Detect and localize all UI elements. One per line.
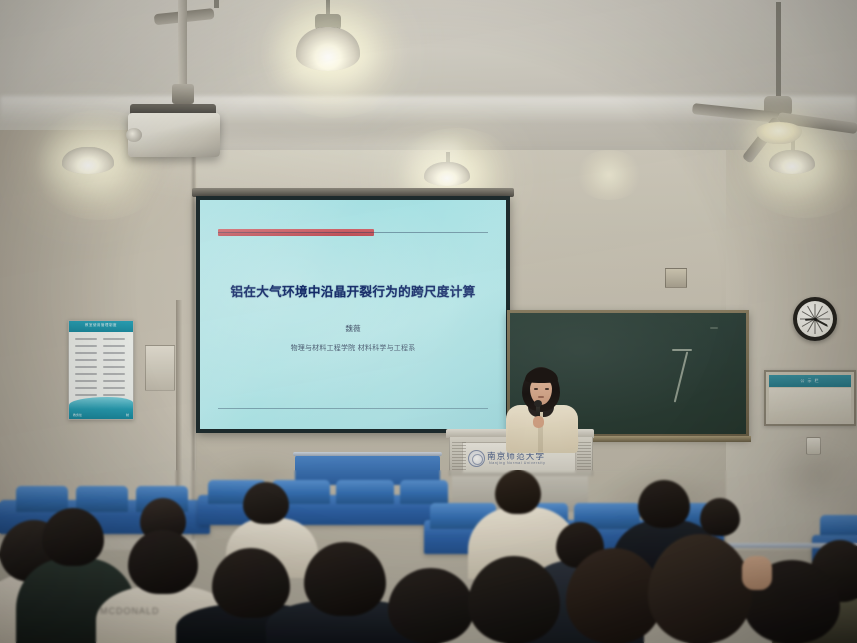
poster-row bbox=[75, 359, 97, 361]
seat-back[interactable] bbox=[76, 486, 128, 512]
podium-vent bbox=[577, 442, 591, 471]
podium-institution-en: Nanjing Normal University bbox=[489, 461, 573, 465]
poster-row bbox=[75, 373, 97, 375]
presenter-hand bbox=[533, 416, 544, 428]
clock-face bbox=[797, 301, 833, 337]
wall-clock-icon bbox=[793, 297, 837, 341]
pendant-light bbox=[424, 162, 470, 186]
poster-row bbox=[75, 380, 97, 382]
framed-notice-board: 公 示 栏 bbox=[764, 370, 856, 426]
poster-row bbox=[103, 366, 125, 368]
wall-speaker-icon bbox=[665, 268, 687, 288]
poster-row bbox=[103, 380, 125, 382]
poster-header-text: 教室使用管理制度 bbox=[69, 321, 133, 330]
poster-row bbox=[103, 338, 125, 340]
poster-row bbox=[103, 359, 125, 361]
poster-footer-left: 教务处 bbox=[73, 413, 82, 417]
slide-affiliation: 物理与材料工程学院 材料科学与工程系 bbox=[200, 343, 506, 353]
fan-rod bbox=[776, 2, 781, 98]
podium-vent bbox=[452, 442, 466, 471]
framed-board-header: 公 示 栏 bbox=[769, 375, 851, 387]
projector-lens-icon bbox=[126, 128, 142, 142]
audience-head bbox=[638, 480, 690, 528]
pendant-light bbox=[62, 147, 114, 174]
poster-footer-right: 制 bbox=[126, 413, 129, 417]
audience-head bbox=[495, 470, 541, 514]
poster-footer: 教务处 制 bbox=[73, 413, 129, 417]
chalk-mark bbox=[710, 327, 718, 329]
poster-row bbox=[103, 345, 125, 347]
wall-outlet[interactable] bbox=[806, 437, 821, 455]
poster-row bbox=[75, 366, 97, 368]
slide-rule-bottom bbox=[218, 408, 487, 409]
presenter-mouth bbox=[538, 396, 544, 398]
chalk-mark bbox=[674, 352, 689, 403]
audience-head bbox=[304, 542, 386, 616]
fan-rod bbox=[214, 0, 219, 8]
chalk-mark bbox=[672, 349, 692, 351]
clock-tick bbox=[815, 319, 816, 334]
audience-head bbox=[212, 548, 290, 618]
audience-head bbox=[42, 508, 104, 566]
slide-rule-top bbox=[218, 232, 487, 233]
poster-row bbox=[75, 345, 97, 347]
audience-head bbox=[128, 530, 198, 594]
audience-head bbox=[243, 482, 289, 524]
framed-board-body bbox=[769, 388, 851, 421]
projector-bracket bbox=[172, 84, 194, 104]
wall-poster-regulations: 教室使用管理制度 教务处 制 bbox=[68, 320, 134, 420]
slide-surface: 铝在大气环境中沿晶开裂行为的跨尺度计算 魏薇 物理与材料工程学院 材料科学与工程… bbox=[200, 200, 506, 429]
left-wall-corner bbox=[192, 140, 195, 540]
wall-switch-panel[interactable] bbox=[145, 345, 175, 391]
seat-back[interactable] bbox=[336, 480, 394, 504]
audience-head bbox=[468, 556, 560, 643]
audience-head bbox=[700, 498, 740, 536]
poster-row bbox=[75, 387, 97, 389]
projector-pole bbox=[178, 0, 187, 86]
audience-shirt-text: MCDONALD bbox=[100, 606, 184, 620]
poster-row bbox=[75, 352, 97, 354]
pendant-light bbox=[769, 150, 815, 174]
presenter-eye bbox=[534, 388, 538, 390]
slide-author: 魏薇 bbox=[200, 323, 506, 334]
presenter-eye bbox=[545, 388, 549, 390]
audience-head bbox=[648, 534, 752, 643]
slide-title: 铝在大气环境中沿晶开裂行为的跨尺度计算 bbox=[200, 281, 506, 300]
poster-row bbox=[103, 373, 125, 375]
poster-row bbox=[75, 394, 97, 396]
poster-row bbox=[103, 387, 125, 389]
seat-back[interactable] bbox=[16, 486, 68, 512]
projection-screen: 铝在大气环境中沿晶开裂行为的跨尺度计算 魏薇 物理与材料工程学院 材料科学与工程… bbox=[196, 196, 510, 433]
desk-edge bbox=[293, 452, 442, 456]
clock-center-pin bbox=[814, 318, 817, 321]
audience-head bbox=[388, 568, 474, 643]
audience-hand bbox=[742, 556, 772, 590]
pendant-light bbox=[296, 27, 360, 71]
lecture-hall-photo: 铝在大气环境中沿晶开裂行为的跨尺度计算 魏薇 物理与材料工程学院 材料科学与工程… bbox=[0, 0, 857, 643]
poster-row bbox=[103, 394, 125, 396]
seat-back[interactable] bbox=[400, 480, 448, 504]
poster-row bbox=[75, 338, 97, 340]
university-emblem-icon bbox=[468, 450, 485, 467]
microphone-head bbox=[534, 400, 542, 407]
emblem-inner-ring bbox=[472, 454, 483, 465]
framed-board-header-text: 公 示 栏 bbox=[769, 375, 851, 387]
poster-header: 教室使用管理制度 bbox=[69, 321, 133, 332]
poster-row bbox=[103, 352, 125, 354]
